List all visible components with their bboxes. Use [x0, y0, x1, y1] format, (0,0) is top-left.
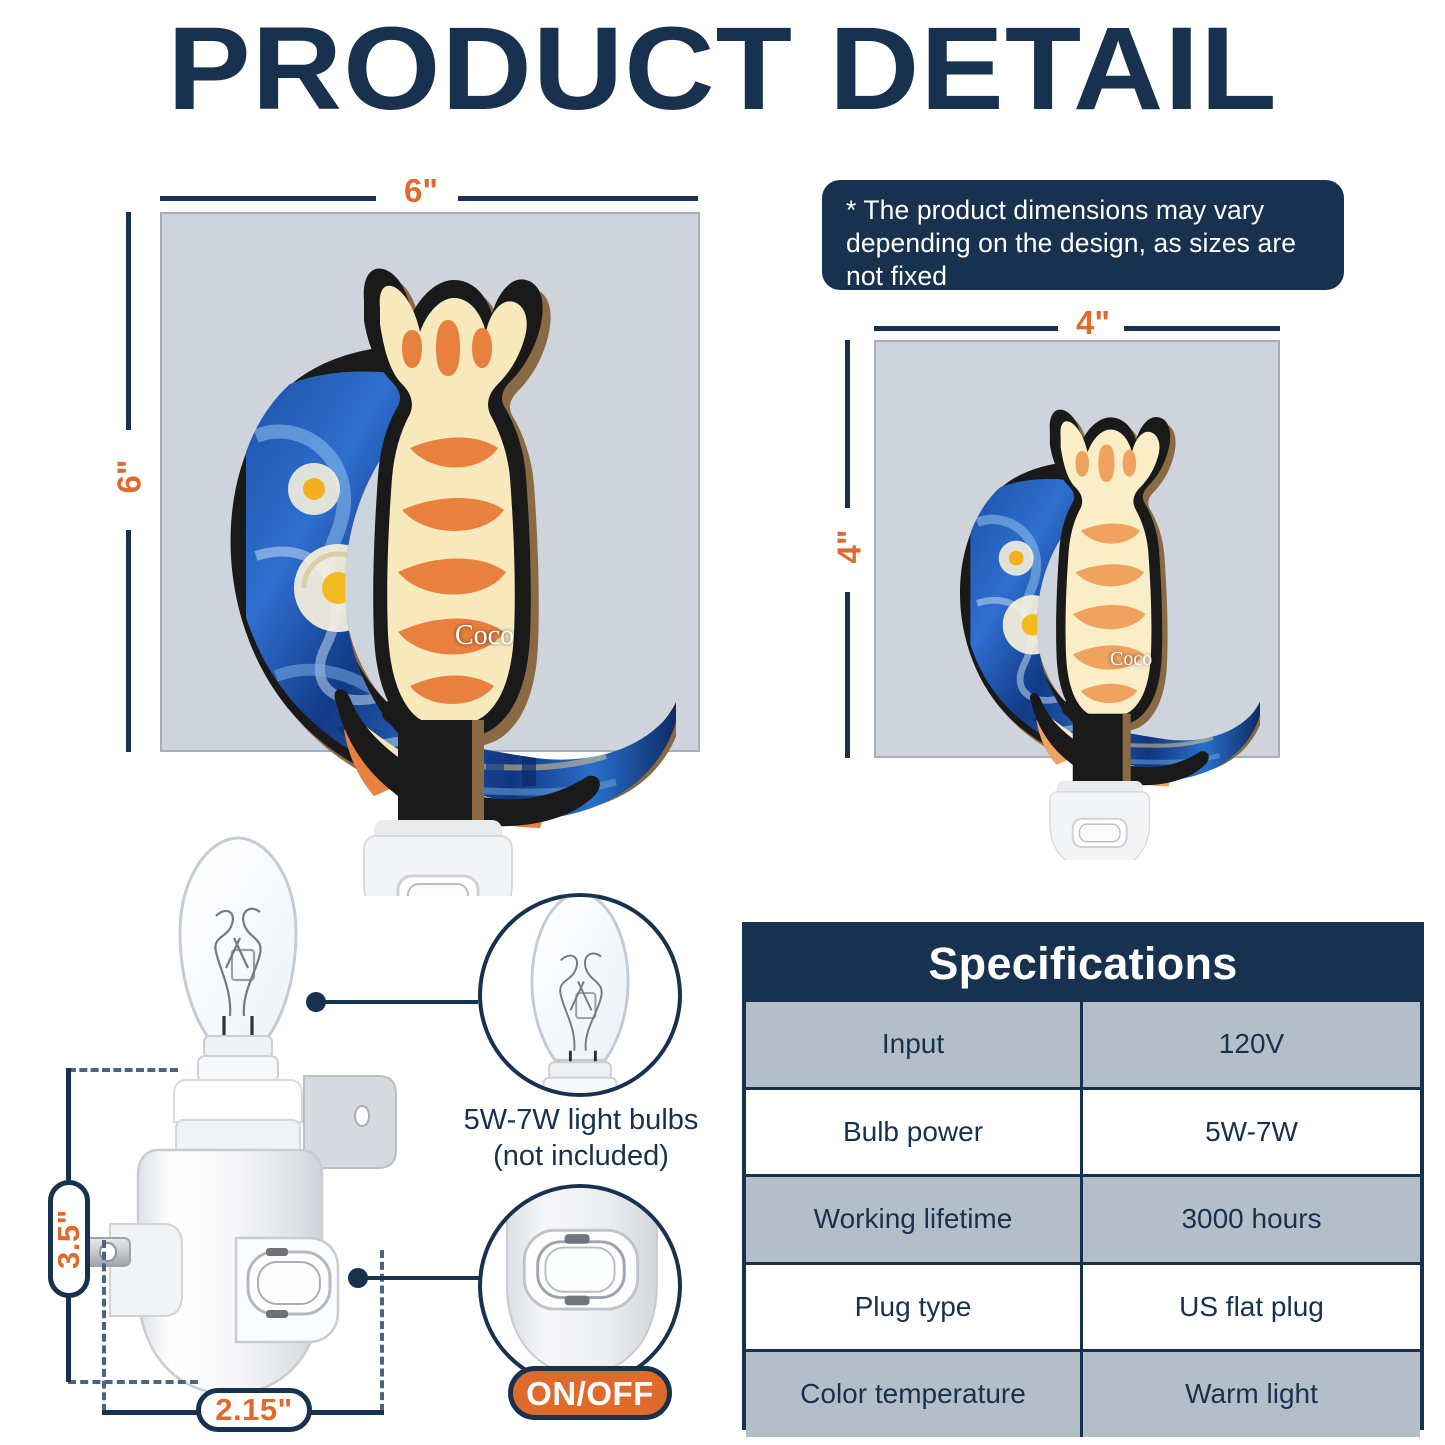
- bulb-caption-line-2: (not included): [452, 1138, 710, 1174]
- table-row: Plug type US flat plug: [746, 1262, 1420, 1350]
- dimension-line-right-b: [845, 592, 850, 758]
- specifications-title: Specifications: [746, 926, 1420, 1002]
- dimension-line-top-left-a: [160, 196, 376, 201]
- switch-callout-circle: [478, 1184, 682, 1388]
- bulb-callout-caption: 5W-7W light bulbs (not included): [452, 1102, 710, 1174]
- small-product-image: [930, 360, 1260, 860]
- spec-value: 3000 hours: [1083, 1177, 1420, 1262]
- dash-line-right: [380, 1250, 384, 1412]
- large-height-label: 6": [113, 460, 146, 494]
- night-light-base-image: [90, 820, 450, 1420]
- table-row: Input 120V: [746, 1002, 1420, 1087]
- large-width-label: 6": [404, 174, 438, 207]
- on-off-badge: ON/OFF: [508, 1366, 672, 1420]
- dash-line-left: [102, 1240, 106, 1412]
- dash-line-bottom: [68, 1380, 198, 1384]
- spec-value: 5W-7W: [1083, 1090, 1420, 1175]
- large-personalized-name: Coco: [455, 620, 514, 652]
- spec-key: Plug type: [746, 1265, 1083, 1350]
- small-width-label: 4": [1076, 306, 1110, 339]
- specifications-table: Specifications Input 120V Bulb power 5W-…: [742, 922, 1424, 1430]
- table-row: Bulb power 5W-7W: [746, 1087, 1420, 1175]
- small-height-label: 4": [833, 530, 866, 564]
- spec-value: US flat plug: [1083, 1265, 1420, 1350]
- dimension-note-box: * The product dimensions may vary depend…: [822, 180, 1344, 290]
- switch-leader-dot: [348, 1268, 368, 1288]
- page-title: PRODUCT DETAIL: [0, 6, 1445, 132]
- switch-leader-line: [360, 1276, 480, 1280]
- large-product-image: [186, 236, 676, 896]
- bulb-caption-line-1: 5W-7W light bulbs: [452, 1102, 710, 1138]
- base-height-badge: 3.5": [48, 1180, 90, 1298]
- dimension-line-right-a: [845, 340, 850, 508]
- spec-key: Working lifetime: [746, 1177, 1083, 1262]
- bulb-leader-line: [318, 1000, 478, 1004]
- small-personalized-name: Coco: [1110, 648, 1152, 671]
- bulb-callout-circle: [478, 893, 682, 1097]
- dimension-line-top-right-a: [874, 326, 1058, 331]
- spec-value: 120V: [1083, 1002, 1420, 1087]
- dimension-line-top-right-b: [1124, 326, 1280, 331]
- table-row: Working lifetime 3000 hours: [746, 1174, 1420, 1262]
- dimension-line-top-left-b: [458, 196, 698, 201]
- dimension-line-left-b: [126, 530, 131, 752]
- product-detail-infographic: PRODUCT DETAIL 6" 6": [0, 0, 1445, 1445]
- table-row: Color temperature Warm light: [746, 1349, 1420, 1437]
- spec-key: Input: [746, 1002, 1083, 1087]
- dimension-line-left-a: [126, 212, 131, 430]
- specifications-body: Input 120V Bulb power 5W-7W Working life…: [746, 1002, 1420, 1437]
- spec-value: Warm light: [1083, 1352, 1420, 1437]
- spec-key: Bulb power: [746, 1090, 1083, 1175]
- spec-key: Color temperature: [746, 1352, 1083, 1437]
- dash-line-top: [68, 1068, 178, 1072]
- bulb-leader-dot: [306, 992, 326, 1012]
- base-width-badge: 2.15": [196, 1388, 312, 1432]
